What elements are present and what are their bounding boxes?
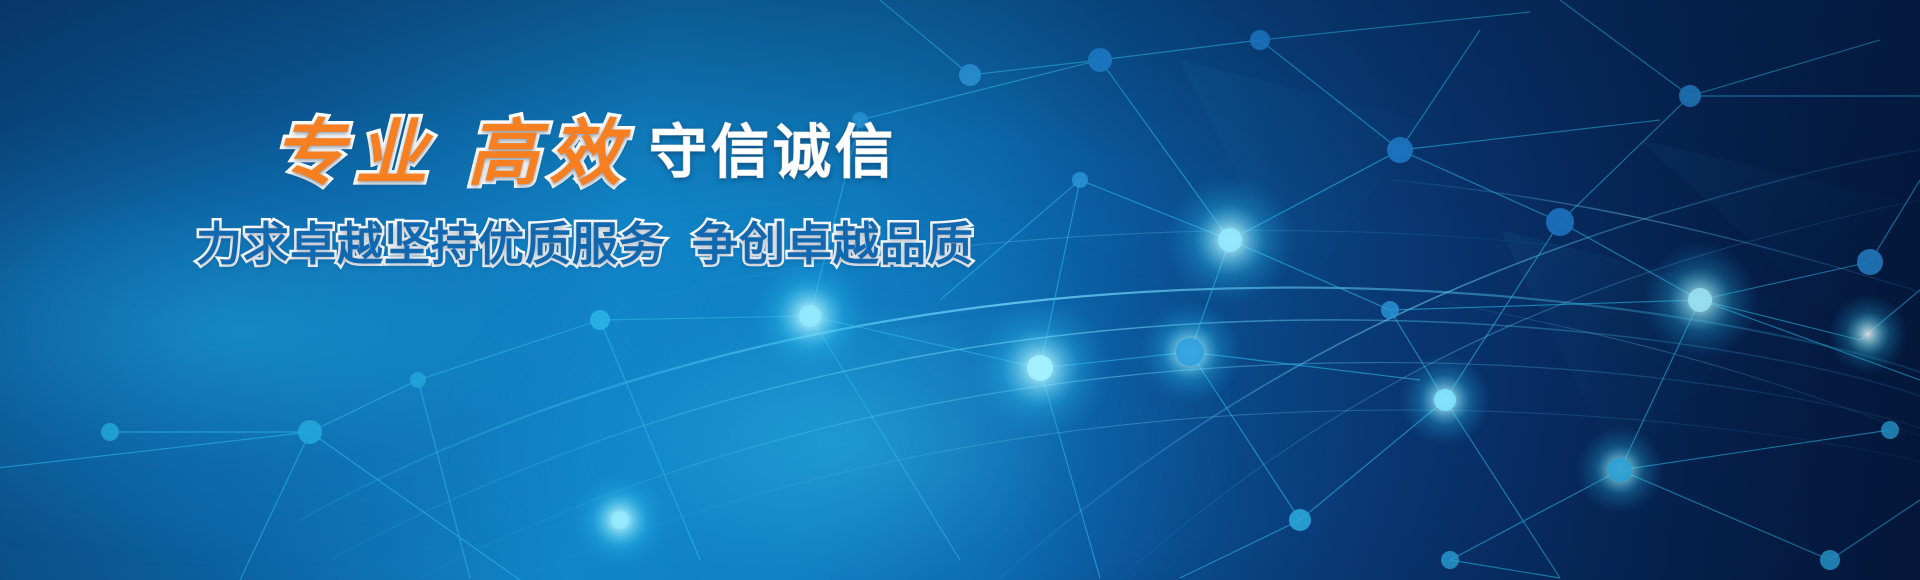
subtitle-part-one: 力求卓越坚持优质服务 — [196, 218, 666, 270]
banner-headline: 专业 高效守信诚信 — [0, 118, 1170, 190]
promo-banner: 专业 高效守信诚信 力求卓越坚持优质服务争创卓越品质 — [0, 0, 1920, 580]
banner-text-block: 专业 高效守信诚信 力求卓越坚持优质服务争创卓越品质 — [0, 118, 1170, 274]
headline-accent-text: 专业 高效 — [273, 114, 631, 194]
background-vignette — [0, 0, 1920, 580]
headline-plain-text: 守信诚信 — [649, 120, 897, 185]
banner-subtitle: 力求卓越坚持优质服务争创卓越品质 — [0, 208, 1170, 274]
subtitle-part-two: 争创卓越品质 — [692, 218, 974, 270]
